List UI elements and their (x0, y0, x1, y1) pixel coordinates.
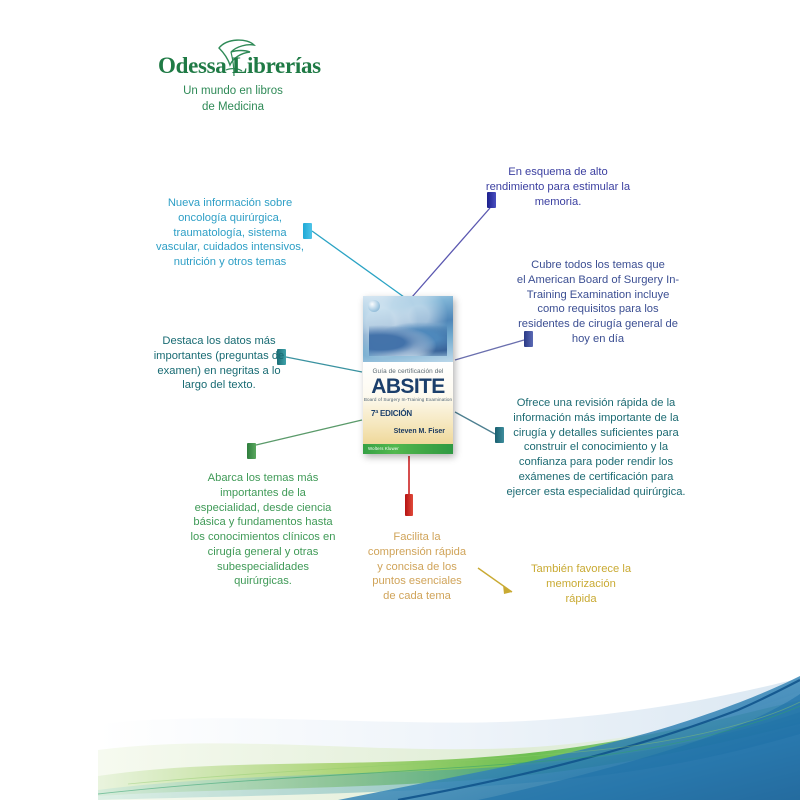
brand-logo: Odessa Librerías Un mundo en libros de M… (158, 36, 308, 115)
book-edition: 7ª EDICIÓN (371, 409, 412, 418)
book-cover[interactable]: Guía de certificación del ABSITE Board o… (363, 296, 453, 454)
connector-high-yield-scheme (412, 208, 490, 297)
arrow-head-fast-memorization (503, 585, 512, 594)
logo-tagline-line1: Un mundo en libros (158, 84, 308, 100)
logo-tagline: Un mundo en libros de Medicina (158, 84, 308, 115)
connector-new-information (312, 231, 404, 297)
callout-new-information: Nueva información sobre oncología quirúr… (140, 196, 320, 270)
callout-fast-memorization: También favorece la memorización rápida (518, 562, 644, 606)
book-cover-text-area: Guía de certificación del ABSITE Board o… (363, 362, 453, 444)
callout-bold-key-data: Destaca los datos más importantes (pregu… (136, 334, 302, 393)
connector-covers-specialty (256, 420, 362, 445)
marker-covers-specialty (247, 443, 256, 459)
logo-tagline-line2: de Medicina (158, 100, 308, 116)
book-subtitle-top: Guía de certificación del (363, 368, 453, 375)
callout-quick-review: Ofrece una revisión rápida de la informa… (496, 396, 696, 499)
book-cover-photo (363, 296, 453, 362)
book-title: ABSITE (363, 376, 453, 397)
page-canvas: Odessa Librerías Un mundo en libros de M… (0, 0, 800, 800)
callout-high-yield-scheme: En esquema de alto rendimiento para esti… (468, 165, 648, 209)
callout-covers-specialty: Abarca los temas más importantes de la e… (180, 471, 346, 589)
book-author: Steven M. Fiser (363, 428, 445, 435)
marker-quick-comprehension (405, 494, 413, 516)
footer-wave-graphic (98, 672, 800, 800)
book-subtitle-small: Board of Surgery In-Training Examination (363, 397, 453, 402)
callout-absite-topics: Cubre todos los temas que el American Bo… (500, 258, 696, 347)
callout-quick-comprehension: Facilita la comprensión rápida y concisa… (358, 530, 476, 604)
book-publisher-name: Wolters Kluwer (368, 446, 399, 451)
book-publisher-band: Wolters Kluwer (363, 444, 453, 454)
logo-title: Odessa Librerías (158, 54, 308, 77)
connector-fast-memorization (478, 568, 512, 592)
connector-quick-review (455, 412, 495, 434)
